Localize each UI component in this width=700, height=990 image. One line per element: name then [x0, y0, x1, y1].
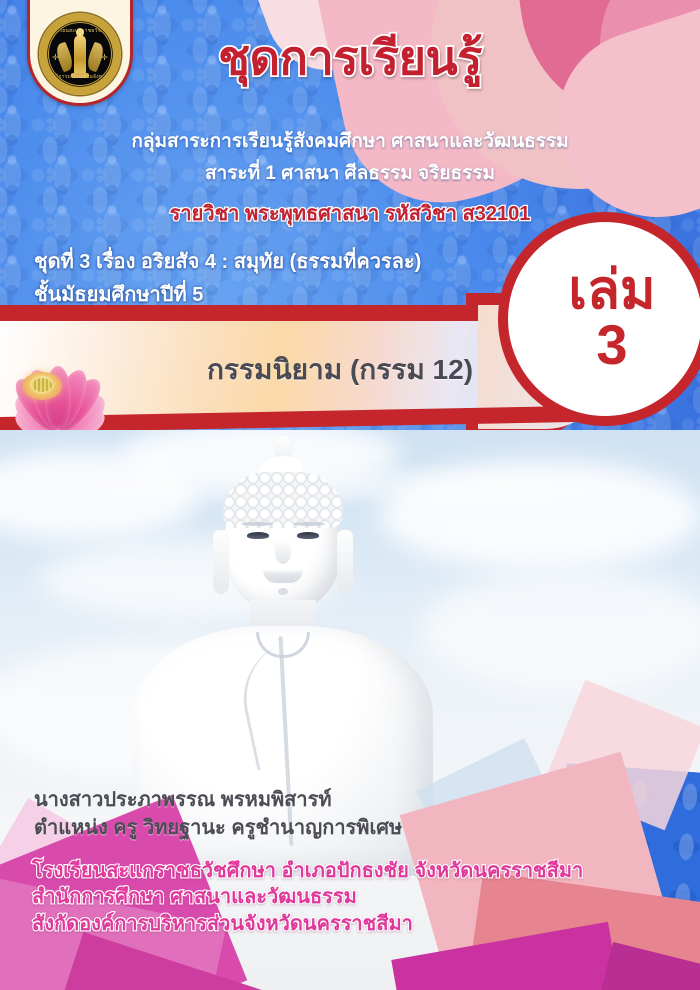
- volume-label: เล่ม: [568, 265, 655, 316]
- author-block: นางสาวประภาพรรณ พรหมพิสารท์ ตำแหน่ง ครู …: [34, 786, 554, 842]
- school-affiliation-line: สังกัดองค์การบริหารส่วนจังหวัดนครราชสีมา: [32, 911, 672, 937]
- buddha-brow-right: [293, 522, 325, 526]
- buddha-eye-right: [297, 532, 319, 539]
- volume-number: 3: [596, 317, 627, 373]
- buddha-brow-left: [241, 522, 273, 526]
- buddha-ear-left: [213, 530, 229, 594]
- buddha-ear-right: [337, 530, 353, 594]
- buddha-hair-curls: [223, 472, 343, 528]
- buddha-nose: [275, 540, 291, 564]
- topic-banner-text: กรรมนิยาม (กรรม 12): [140, 348, 540, 392]
- buddha-chin: [278, 588, 288, 595]
- cloud: [420, 570, 700, 690]
- school-name-line: โรงเรียนสะแกราชธวัชศึกษา อำเภอปักธงชัย จ…: [32, 858, 672, 884]
- author-position: ตำแหน่ง ครู วิทยฐานะ ครูชำนาญการพิเศษ: [34, 814, 554, 842]
- buddha-eye-left: [247, 532, 269, 539]
- lotus-flower-decoration: [0, 312, 120, 434]
- author-name: นางสาวประภาพรรณ พรหมพิสารท์: [34, 786, 554, 814]
- book-cover: โรงเรียนสะแกราชธวัชศึกษา ✛ ✛ องค์การบริห…: [0, 0, 700, 990]
- subtitle-learning-area: กลุ่มสาระการเรียนรู้สังคมศึกษา ศาสนาและว…: [0, 131, 700, 153]
- page-title: ชุดการเรียนรู้: [0, 34, 700, 81]
- school-block: โรงเรียนสะแกราชธวัชศึกษา อำเภอปักธงชัย จ…: [32, 858, 672, 937]
- lotus-center-icon: [22, 372, 62, 400]
- set-topic-line: ชุดที่ 3 เรื่อง อริยสัจ 4 : สมุทัย (ธรรม…: [34, 245, 421, 277]
- school-office-line: สำนักการศึกษา ศาสนาและวัฒนธรรม: [32, 884, 672, 910]
- subtitle-strand: สาระที่ 1 ศาสนา ศีลธรรม จริยธรรม: [0, 163, 700, 185]
- volume-badge: เล่ม 3: [508, 222, 700, 416]
